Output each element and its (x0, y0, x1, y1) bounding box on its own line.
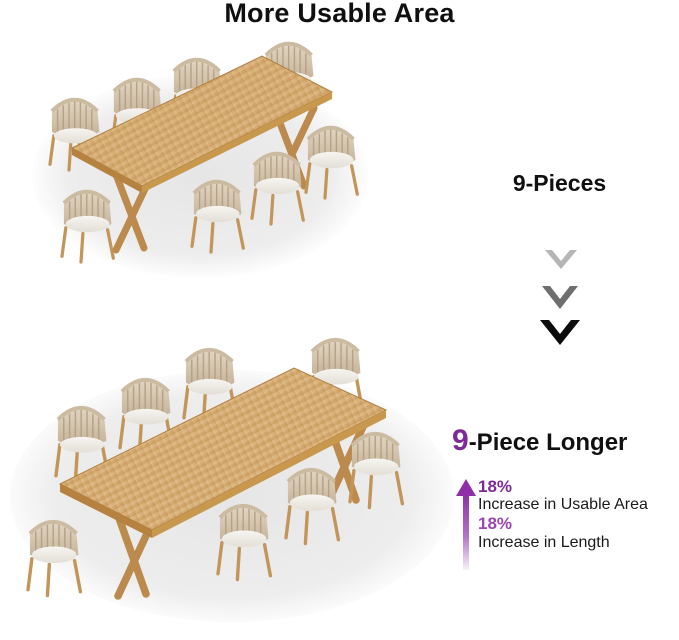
chevron-down-icon-2 (540, 284, 580, 312)
chevron-down-icon-1 (543, 248, 579, 272)
metric-description-0: Increase in Usable Area (478, 496, 679, 514)
product-comparison-graphic: More Usable Area (0, 0, 679, 640)
top-furniture-scene (14, 36, 386, 284)
metric-value-0: 18% (478, 478, 679, 496)
bottom-furniture-scene (0, 318, 474, 640)
metric-description-1: Increase in Length (478, 534, 679, 552)
bottom-scene-label-rest: -Piece Longer (469, 429, 628, 456)
bottom-scene-label: 9-Piece Longer (452, 424, 627, 458)
top-scene-label: 9-Pieces (440, 170, 679, 197)
metrics-list: 18% Increase in Usable Area 18% Increase… (478, 478, 679, 553)
bottom-scene-label-number: 9 (452, 424, 469, 457)
chevron-down-icon-3 (538, 318, 582, 348)
page-title: More Usable Area (0, 0, 679, 29)
metric-value-1: 18% (478, 515, 679, 533)
arrow-up-icon (455, 478, 477, 575)
